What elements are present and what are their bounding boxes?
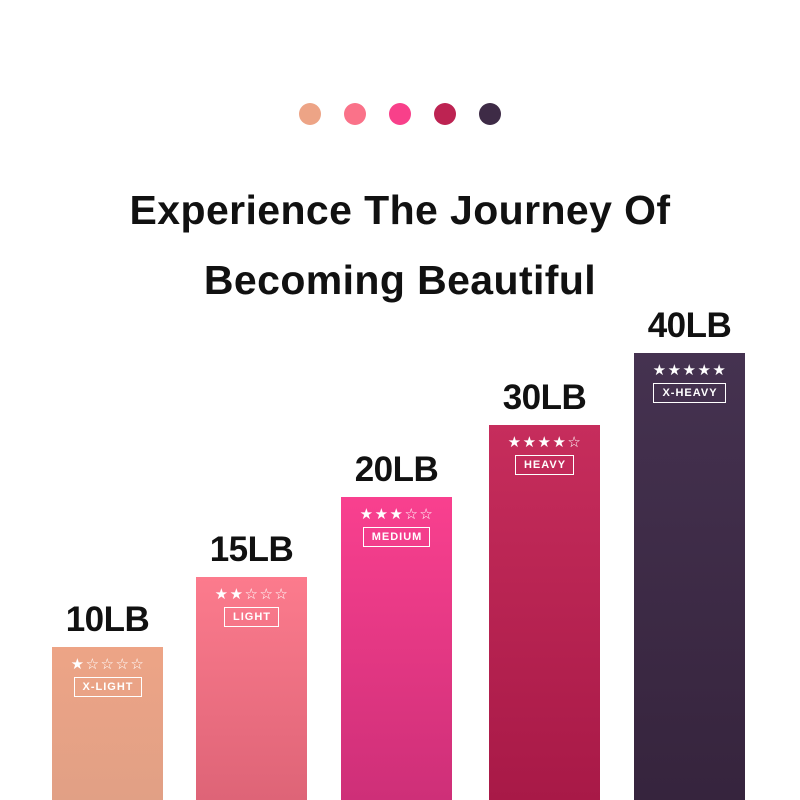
resistance-level-label: X-LIGHT — [74, 677, 142, 697]
bar-badge: ★★★★★X-HEAVY — [634, 363, 745, 403]
bar-weight-label: 10LB — [32, 600, 183, 640]
star-filled-icon: ★ — [712, 363, 726, 378]
star-filled-icon: ★ — [390, 507, 404, 522]
bar-weight-label: 30LB — [469, 378, 620, 418]
star-rating: ★★★☆☆ — [360, 507, 434, 522]
bar-weight-label: 20LB — [321, 450, 472, 490]
star-rating: ★★★★☆ — [508, 435, 582, 450]
resistance-level-label: X-HEAVY — [653, 383, 725, 403]
star-empty-icon: ☆ — [419, 507, 433, 522]
bar-badge: ★★★★☆HEAVY — [489, 435, 600, 475]
star-filled-icon: ★ — [508, 435, 522, 450]
bar-badge: ★★☆☆☆LIGHT — [196, 587, 307, 627]
resistance-level-label: HEAVY — [515, 455, 574, 475]
bar-40lb: ★★★★★X-HEAVY — [634, 353, 745, 800]
star-empty-icon: ☆ — [86, 657, 100, 672]
bar-weight-label: 15LB — [176, 530, 327, 570]
star-rating: ★★★★★ — [653, 363, 727, 378]
star-filled-icon: ★ — [523, 435, 537, 450]
star-filled-icon: ★ — [360, 507, 374, 522]
resistance-level-label: LIGHT — [224, 607, 279, 627]
star-empty-icon: ☆ — [115, 657, 129, 672]
star-filled-icon: ★ — [653, 363, 667, 378]
star-filled-icon: ★ — [552, 435, 566, 450]
bar-weight-label: 40LB — [614, 306, 765, 346]
star-filled-icon: ★ — [230, 587, 244, 602]
star-filled-icon: ★ — [668, 363, 682, 378]
star-filled-icon: ★ — [683, 363, 697, 378]
bar-30lb: ★★★★☆HEAVY — [489, 425, 600, 800]
bar-20lb: ★★★☆☆MEDIUM — [341, 497, 452, 800]
star-empty-icon: ☆ — [245, 587, 259, 602]
star-empty-icon: ☆ — [404, 507, 418, 522]
star-filled-icon: ★ — [697, 363, 711, 378]
star-empty-icon: ☆ — [130, 657, 144, 672]
star-filled-icon: ★ — [375, 507, 389, 522]
star-empty-icon: ☆ — [101, 657, 115, 672]
resistance-band-bar-chart: 10LB★☆☆☆☆X-LIGHT15LB★★☆☆☆LIGHT20LB★★★☆☆M… — [0, 0, 800, 800]
star-rating: ★☆☆☆☆ — [71, 657, 145, 672]
bar-15lb: ★★☆☆☆LIGHT — [196, 577, 307, 800]
resistance-level-label: MEDIUM — [363, 527, 431, 547]
star-rating: ★★☆☆☆ — [215, 587, 289, 602]
star-filled-icon: ★ — [71, 657, 85, 672]
star-empty-icon: ☆ — [274, 587, 288, 602]
star-empty-icon: ☆ — [259, 587, 273, 602]
bar-badge: ★★★☆☆MEDIUM — [341, 507, 452, 547]
bar-badge: ★☆☆☆☆X-LIGHT — [52, 657, 163, 697]
star-empty-icon: ☆ — [567, 435, 581, 450]
bar-10lb: ★☆☆☆☆X-LIGHT — [52, 647, 163, 800]
infographic-page: Experience The Journey Of Becoming Beaut… — [0, 0, 800, 800]
star-filled-icon: ★ — [538, 435, 552, 450]
star-filled-icon: ★ — [215, 587, 229, 602]
